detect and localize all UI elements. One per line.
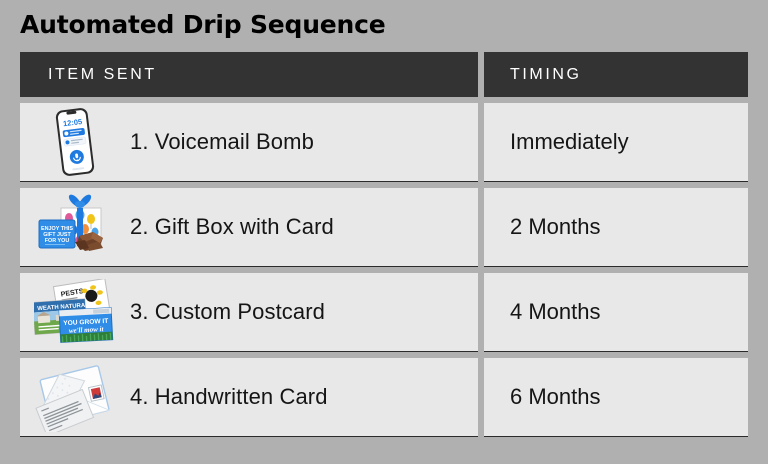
drip-sequence-table: ITEM SENT TIMING 12:05 (20, 52, 748, 444)
row-item-label: 4. Handwritten Card (130, 384, 328, 410)
row-timing-value: 2 Months (484, 188, 748, 267)
row-item-label: 3. Custom Postcard (130, 299, 325, 325)
column-header-timing: TIMING (484, 52, 748, 97)
gift-box-with-card-icon: ENJOY THIS GIFT JUST FOR YOU (20, 188, 130, 267)
smartphone-voicemail-icon: 12:05 (20, 103, 130, 182)
table-row[interactable]: 12:05 (20, 103, 478, 182)
row-item-label: 2. Gift Box with Card (130, 214, 334, 240)
column-header-item-sent: ITEM SENT (20, 52, 478, 97)
table-row[interactable]: ENJOY THIS GIFT JUST FOR YOU (20, 188, 478, 267)
page-title: Automated Drip Sequence (20, 10, 386, 40)
custom-postcards-icon: PESTS (20, 273, 130, 352)
row-item-label: 1. Voicemail Bomb (130, 129, 314, 155)
column-header-item-sent-label: ITEM SENT (48, 66, 157, 84)
table-row[interactable]: PESTS (20, 273, 478, 352)
column-header-timing-label: TIMING (510, 66, 582, 84)
row-timing-value: Immediately (484, 103, 748, 182)
handwritten-card-envelope-icon (20, 358, 130, 437)
svg-text:FOR YOU: FOR YOU (45, 238, 70, 244)
slide-canvas: Automated Drip Sequence ITEM SENT TIMING (0, 0, 768, 464)
table-row[interactable]: 4. Handwritten Card (20, 358, 478, 437)
row-timing-value: 4 Months (484, 273, 748, 352)
row-timing-value: 6 Months (484, 358, 748, 437)
